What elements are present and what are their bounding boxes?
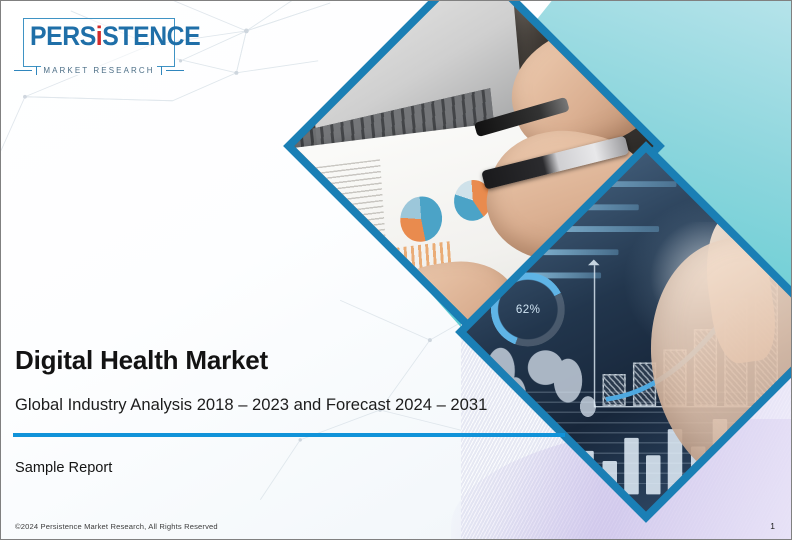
report-type-label: Sample Report — [15, 460, 112, 476]
title-divider — [13, 433, 565, 437]
logo-word-part1: PERS — [30, 21, 96, 51]
logo-wordmark: PERSiSTENCE — [30, 23, 168, 50]
page-title: Digital Health Market — [15, 345, 268, 376]
report-cover-page: 62% PERSiSTENCE — [0, 0, 792, 540]
logo-subtitle-row: MARKET RESEARCH — [14, 66, 184, 75]
brand-logo[interactable]: PERSiSTENCE MARKET RESEARCH — [23, 18, 175, 67]
page-subtitle: Global Industry Analysis 2018 – 2023 and… — [15, 395, 487, 415]
paper-line-chart — [346, 147, 455, 196]
logo-rule-left — [14, 70, 32, 72]
logo-tick-left — [36, 66, 37, 75]
logo-tick-right — [161, 66, 162, 75]
logo-rule-right — [166, 70, 184, 72]
paper-pie-chart-1 — [399, 194, 443, 244]
logo-subtitle: MARKET RESEARCH — [41, 66, 156, 75]
copyright-notice: ©2024 Persistence Market Research, All R… — [15, 522, 218, 531]
dashboard-donut-percent-label: 62% — [491, 273, 565, 347]
page-number: 1 — [770, 521, 775, 531]
logo-word-part2: STENCE — [102, 21, 200, 51]
